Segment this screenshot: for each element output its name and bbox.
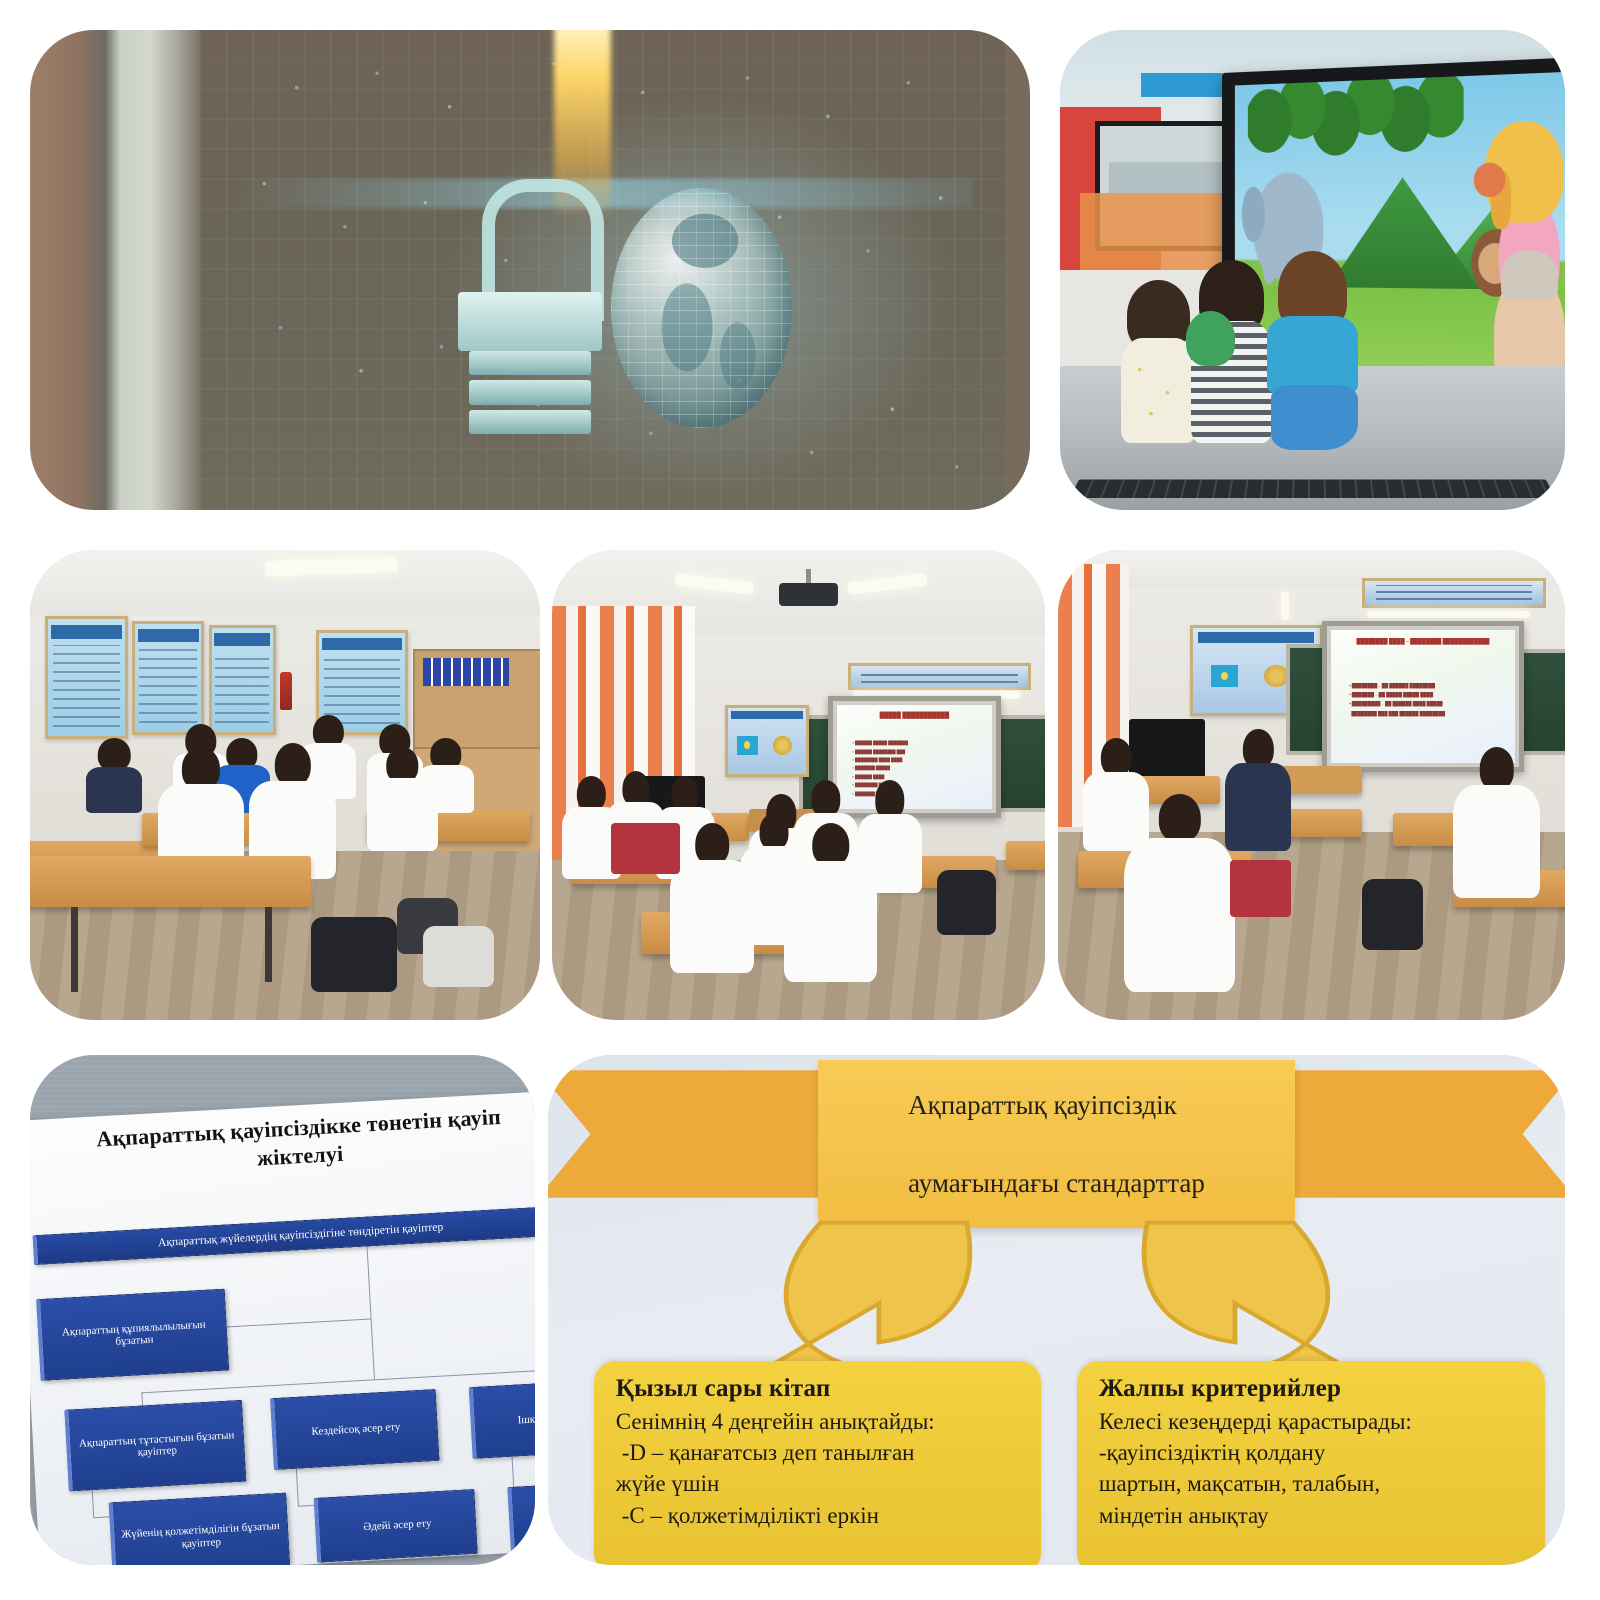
tile-kids-laptop-illustration bbox=[1060, 30, 1565, 510]
fire-extinguisher-icon bbox=[280, 672, 292, 710]
card-line: -C – қолжетімділікті еркін bbox=[616, 1501, 1023, 1530]
tile-classroom-front-view bbox=[30, 550, 540, 1020]
presentation-slide: Ақпараттық қауіпсіздік аумағындағы станд… bbox=[548, 1055, 1565, 1565]
banner-line-2: аумағындағы стандарттар bbox=[890, 1164, 1223, 1203]
laptop-keyboard bbox=[1070, 480, 1555, 499]
flag-icon bbox=[1211, 665, 1239, 687]
projection-screen-area bbox=[200, 30, 1005, 510]
diagram-node-external-threat: Сыртқы bbox=[507, 1481, 535, 1552]
diagram-node-internal-threat: Ішкі қауіп bbox=[469, 1380, 535, 1459]
classroom-scene bbox=[30, 550, 540, 1020]
card-line: Сенімнің 4 деңгейін анықтайды: bbox=[616, 1407, 1023, 1436]
tile-classroom-projection-center: █████ ███████████ ▪ ██████ █████ ███████… bbox=[552, 550, 1045, 1020]
diagram-node-availability: Жүйенің қолжетімділігін бұзатын қауіптер bbox=[109, 1493, 290, 1565]
card-line: -D – қанағатсыз деп танылған bbox=[616, 1438, 1023, 1467]
card-heading: Қызыл сары кітап bbox=[616, 1375, 1023, 1403]
flag-icon bbox=[737, 736, 758, 756]
slide-title-line-2: жіктелуі bbox=[256, 1141, 344, 1171]
card-line: міндетін анықтау bbox=[1099, 1501, 1527, 1530]
slide-banner-title: Ақпараттық қауіпсіздік аумағындағы станд… bbox=[818, 1060, 1296, 1228]
card-heading: Жалпы критерийлер bbox=[1099, 1375, 1527, 1403]
tile-classroom-projection-side: ████████ ████ – ████████ ████████████ ▪ … bbox=[1058, 550, 1565, 1020]
child-figure bbox=[1191, 260, 1272, 442]
photo-collage: █████ ███████████ ▪ ██████ █████ ███████… bbox=[0, 0, 1600, 1600]
classroom-scene: ████████ ████ – ████████ ████████████ ▪ … bbox=[1058, 550, 1565, 1020]
presentation-slide: Ақпараттық қауіпсіздікке төнетін қауіп ж… bbox=[30, 1090, 535, 1565]
padlock-icon bbox=[450, 179, 611, 448]
tile-security-standards-slide: Ақпараттық қауіпсіздік аумағындағы станд… bbox=[548, 1055, 1565, 1565]
projection-wall bbox=[30, 30, 1030, 510]
tile-threat-classification-slide: Ақпараттық қауіпсіздікке төнетін қауіп ж… bbox=[30, 1055, 535, 1565]
ceiling-projector bbox=[779, 583, 838, 607]
illustration-scene bbox=[1060, 30, 1565, 510]
card-line: Келесі кезеңдерді қарастырады: bbox=[1099, 1407, 1527, 1436]
card-line: жүйе үшін bbox=[616, 1469, 1023, 1498]
card-common-criteria: Жалпы критерийлер Келесі кезеңдерді қара… bbox=[1077, 1361, 1545, 1565]
wall-banner bbox=[1362, 578, 1545, 608]
banner-line-1: Ақпараттық қауіпсіздік bbox=[890, 1086, 1223, 1125]
giraffe-icon bbox=[1485, 120, 1564, 223]
crest-icon bbox=[773, 736, 792, 756]
card-red-yellow-book: Қызыл сары кітап Сенімнің 4 деңгейін аны… bbox=[594, 1361, 1041, 1565]
diagram-root-node: Ақпараттық жүйелердің қауіпсіздігіне төн… bbox=[33, 1206, 535, 1266]
card-line: -қауіпсіздіктің қолдану bbox=[1099, 1438, 1527, 1467]
card-line: шартын, мақсатын, талабын, bbox=[1099, 1469, 1527, 1498]
diagram-node-deliberate-impact: Әдейі әсер ету bbox=[314, 1489, 478, 1562]
child-figure bbox=[1267, 251, 1358, 443]
globe-icon bbox=[611, 188, 792, 428]
child-figure bbox=[1121, 280, 1197, 443]
diagram-node-integrity: Ақпараттың тұтастығын бұзатын қауіптер bbox=[65, 1400, 247, 1491]
diagram-node-accidental-impact: Кездейсоқ әсер ету bbox=[269, 1390, 439, 1470]
classroom-scene: █████ ███████████ ▪ ██████ █████ ███████… bbox=[552, 550, 1045, 1020]
tile-padlock-globe-projection bbox=[30, 30, 1030, 510]
threat-hierarchy-diagram: Ақпараттық жүйелердің қауіпсіздігіне төн… bbox=[33, 1204, 535, 1565]
diagram-node-confidentiality: Ақпараттың құпиялылылығын бұзатын bbox=[36, 1289, 229, 1381]
